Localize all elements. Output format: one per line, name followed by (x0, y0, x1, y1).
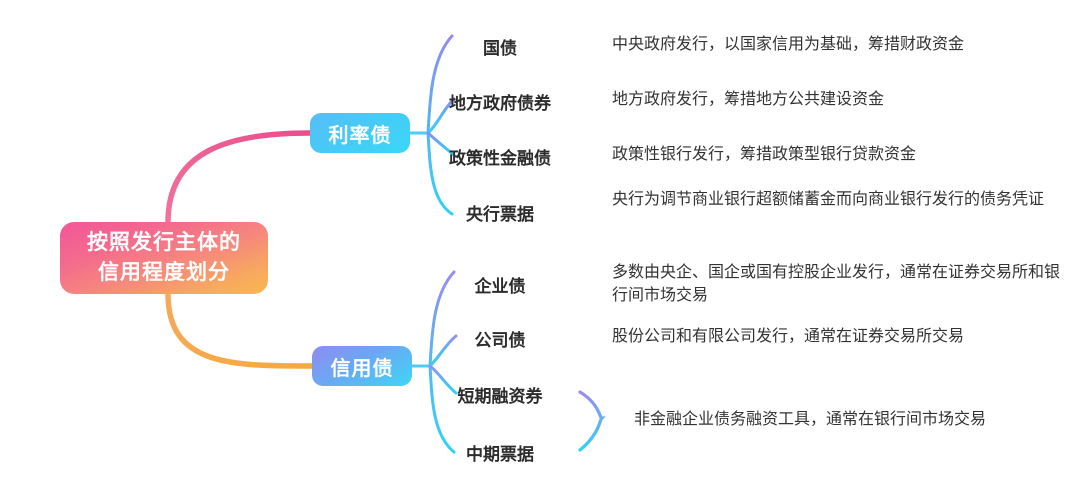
leaf-label-zhongqi[interactable]: 中期票据 (420, 440, 580, 465)
desc-yangxing: 央行为调节商业银行超额储蓄金而向商业银行发行的债务凭证 (612, 188, 1060, 211)
leaf-label-difang[interactable]: 地方政府债券 (420, 89, 580, 114)
leaf-label-zhengcexing[interactable]: 政策性金融债 (420, 144, 580, 169)
branch-label-credit: 信用债 (331, 352, 394, 381)
leaf-label-yangxing[interactable]: 央行票据 (420, 200, 580, 225)
root-label-line2: 信用程度划分 (98, 258, 230, 288)
desc-qiyezhai: 多数由央企、国企或国有控股企业发行，通常在证券交易所和银行间市场交易 (612, 261, 1060, 307)
mindmap-canvas: 按照发行主体的 信用程度划分 利率债 信用债 国债 地方政府债券 政策性金融债 … (0, 0, 1080, 494)
leaf-label-duanqi[interactable]: 短期融资券 (420, 382, 580, 407)
leaf-label-qiyezhai[interactable]: 企业债 (420, 272, 580, 297)
leaf-label-gongsizhai[interactable]: 公司债 (420, 326, 580, 351)
desc-gongsizhai: 股份公司和有限公司发行，通常在证券交易所交易 (612, 325, 1060, 348)
leaf-label-guozhai[interactable]: 国债 (420, 34, 580, 59)
branch-node-rate[interactable]: 利率债 (310, 113, 410, 153)
root-node[interactable]: 按照发行主体的 信用程度划分 (60, 222, 268, 294)
branch-node-credit[interactable]: 信用债 (312, 346, 412, 386)
desc-difang: 地方政府发行，筹措地方公共建设资金 (612, 88, 1060, 111)
edge-root-to-credit (168, 294, 312, 366)
edge-root-to-rate (168, 133, 310, 222)
desc-guozhai: 中央政府发行，以国家信用为基础，筹措财政资金 (612, 33, 1060, 56)
desc-zhengcexing: 政策性银行发行，筹措政策型银行贷款资金 (612, 143, 1060, 166)
root-label-line1: 按照发行主体的 (87, 228, 241, 258)
branch-label-rate: 利率债 (329, 119, 392, 148)
merged-brace (580, 392, 602, 450)
desc-merged: 非金融企业债务融资工具，通常在银行间市场交易 (634, 408, 1064, 431)
